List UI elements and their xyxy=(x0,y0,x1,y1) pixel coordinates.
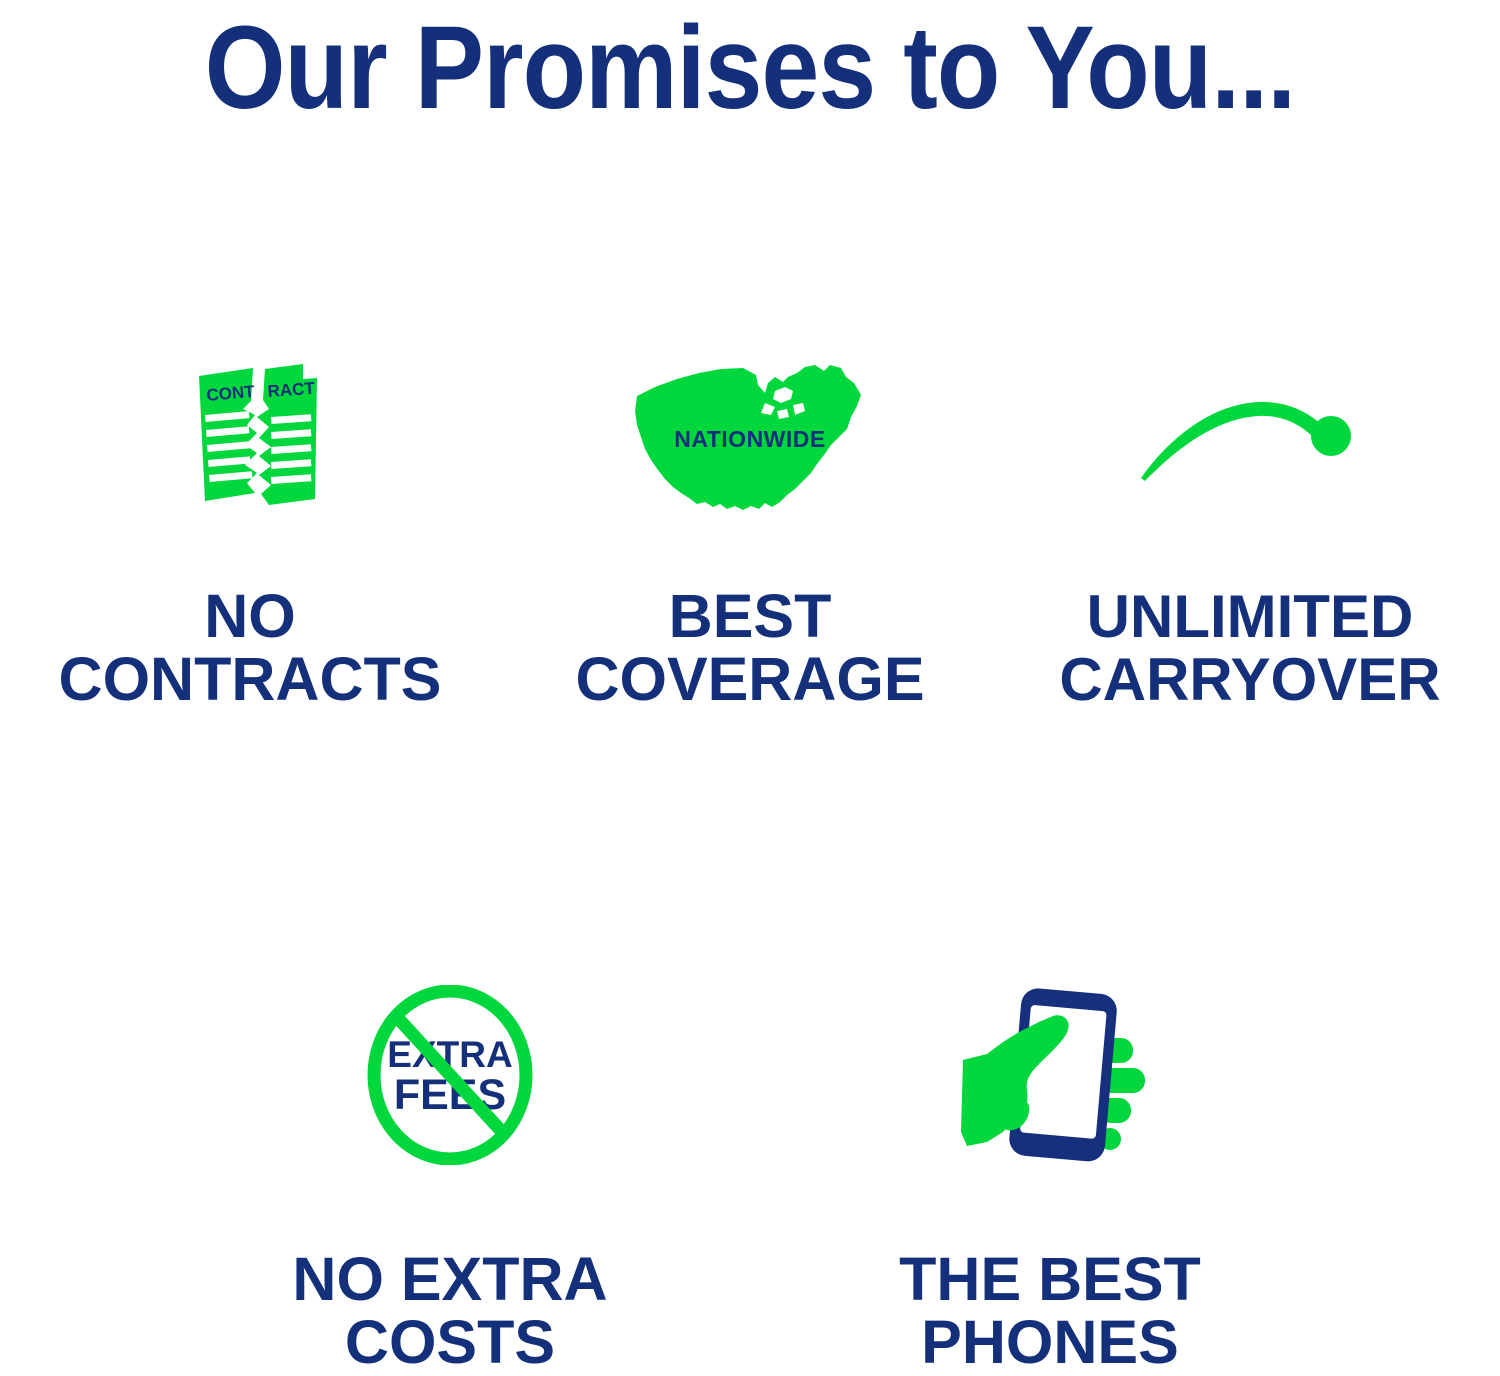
icon-container-unlimited-carryover xyxy=(1135,330,1365,545)
promise-label-no-extra-costs: NO EXTRA COSTS xyxy=(292,1248,607,1374)
carryover-arc-icon xyxy=(1135,378,1365,498)
no-extra-fees-icon: EXTRA FEES xyxy=(363,985,538,1165)
nationwide-text: NATIONWIDE xyxy=(674,426,826,452)
usa-map-icon: NATIONWIDE xyxy=(625,363,875,513)
torn-contract-icon: CONT RACT xyxy=(165,353,335,523)
icon-container-the-best-phones xyxy=(943,960,1158,1190)
promise-label-no-contracts: NO CONTRACTS xyxy=(59,585,442,711)
promise-card-no-extra-costs: EXTRA FEES NO EXTRA COSTS xyxy=(150,960,750,1374)
page-title: Our Promises to You... xyxy=(90,4,1410,132)
hand-holding-phone-icon xyxy=(943,980,1158,1170)
promise-card-the-best-phones: THE BEST PHONES xyxy=(750,960,1350,1374)
promise-row-top: CONT RACT NO CONTRACTS NATIONWIDE BEST C… xyxy=(0,330,1500,711)
icon-container-no-extra-costs: EXTRA FEES xyxy=(363,960,538,1190)
promise-label-the-best-phones: THE BEST PHONES xyxy=(899,1248,1201,1374)
contract-text-right: RACT xyxy=(267,378,316,400)
promise-row-bottom: EXTRA FEES NO EXTRA COSTS xyxy=(0,960,1500,1374)
promise-card-no-contracts: CONT RACT NO CONTRACTS xyxy=(0,330,500,711)
promise-label-best-coverage: BEST COVERAGE xyxy=(575,585,924,711)
icon-container-best-coverage: NATIONWIDE xyxy=(625,330,875,545)
icon-container-no-contracts: CONT RACT xyxy=(165,330,335,545)
promise-card-best-coverage: NATIONWIDE BEST COVERAGE xyxy=(500,330,1000,711)
promise-card-unlimited-carryover: UNLIMITED CARRYOVER xyxy=(1000,330,1500,711)
promise-label-unlimited-carryover: UNLIMITED CARRYOVER xyxy=(1059,585,1440,711)
